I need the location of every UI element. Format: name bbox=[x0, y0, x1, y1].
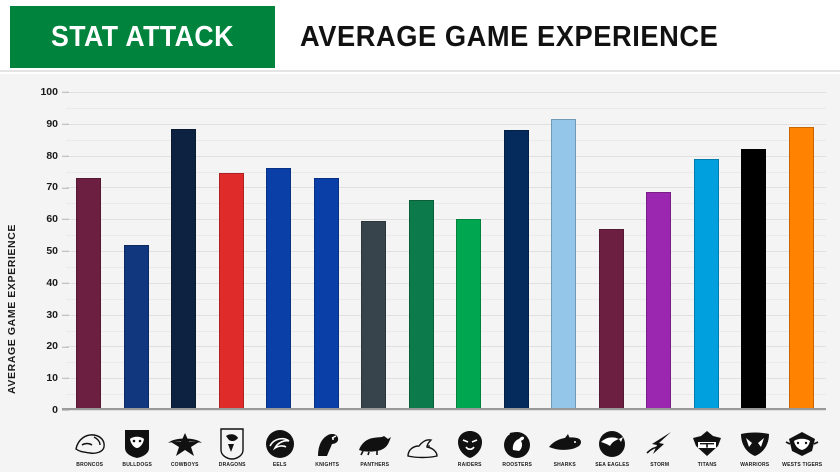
logo-caption: EELS bbox=[273, 463, 287, 468]
x-axis-label-sea-eagles[interactable]: SEA EAGLES bbox=[589, 418, 635, 468]
y-tick-mark-40 bbox=[62, 283, 69, 284]
plot-area bbox=[66, 92, 826, 410]
y-tick-label-30: 30 bbox=[18, 309, 58, 320]
x-axis-label-roosters[interactable]: ROOSTERS bbox=[494, 418, 540, 468]
logo-caption: WARRIORS bbox=[740, 463, 769, 468]
y-tick-mark-20 bbox=[62, 346, 69, 347]
y-tick-label-40: 40 bbox=[18, 278, 58, 289]
y-tick-mark-0 bbox=[62, 410, 69, 411]
bar-warriors[interactable] bbox=[741, 149, 766, 410]
logo-caption: BULLDOGS bbox=[122, 463, 152, 468]
y-tick-mark-70 bbox=[62, 187, 69, 188]
logo-caption: DRAGONS bbox=[219, 463, 246, 468]
x-axis-label-wests-tigers[interactable]: WESTS TIGERS bbox=[779, 418, 825, 468]
x-axis-label-cowboys[interactable]: COWBOYS bbox=[162, 418, 208, 468]
raiders-logo bbox=[450, 426, 490, 462]
chart-container: AVERAGE GAME EXPERIENCE 0102030405060708… bbox=[0, 74, 840, 472]
y-tick-label-60: 60 bbox=[18, 214, 58, 225]
x-axis-label-bulldogs[interactable]: BULLDOGS bbox=[114, 418, 160, 468]
brand-badge: STAT ATTACK bbox=[10, 6, 275, 68]
broncos-logo bbox=[70, 426, 110, 462]
storm-logo bbox=[640, 426, 680, 462]
eels-logo bbox=[260, 426, 300, 462]
x-axis-label-sharks[interactable]: SHARKS bbox=[542, 418, 588, 468]
bar-storm[interactable] bbox=[646, 192, 671, 410]
y-tick-mark-30 bbox=[62, 315, 69, 316]
y-tick-label-80: 80 bbox=[18, 150, 58, 161]
bulldogs-logo bbox=[117, 426, 157, 462]
logo-caption: RAIDERS bbox=[458, 463, 482, 468]
bar-bulldogs[interactable] bbox=[124, 245, 149, 410]
bar-rabbitohs[interactable] bbox=[409, 200, 434, 410]
gridline-0 bbox=[66, 410, 826, 411]
dragons-logo bbox=[212, 426, 252, 462]
x-axis-label-eels[interactable]: EELS bbox=[257, 418, 303, 468]
x-axis-label-rabbitohs[interactable] bbox=[399, 418, 445, 468]
logo-caption: TITANS bbox=[698, 463, 717, 468]
y-tick-label-50: 50 bbox=[18, 246, 58, 257]
bar-eels[interactable] bbox=[266, 168, 291, 410]
y-tick-label-0: 0 bbox=[18, 405, 58, 416]
header-divider bbox=[0, 70, 840, 72]
logo-caption: SEA EAGLES bbox=[595, 463, 629, 468]
y-tick-mark-60 bbox=[62, 219, 69, 220]
y-tick-label-70: 70 bbox=[18, 182, 58, 193]
sea-eagles-logo bbox=[592, 426, 632, 462]
logo-caption: WESTS TIGERS bbox=[782, 463, 822, 468]
y-tick-mark-10 bbox=[62, 378, 69, 379]
sharks-logo bbox=[545, 426, 585, 462]
logo-caption: PANTHERS bbox=[360, 463, 389, 468]
bar-dragons[interactable] bbox=[219, 173, 244, 410]
x-axis-label-panthers[interactable]: PANTHERS bbox=[352, 418, 398, 468]
logo-caption: STORM bbox=[650, 463, 669, 468]
y-tick-label-90: 90 bbox=[18, 119, 58, 130]
bar-panthers[interactable] bbox=[361, 221, 386, 410]
bar-wests-tigers[interactable] bbox=[789, 127, 814, 410]
wests-tigers-logo bbox=[782, 426, 822, 462]
x-axis-line bbox=[62, 408, 826, 410]
knights-logo bbox=[307, 426, 347, 462]
warriors-logo bbox=[735, 426, 775, 462]
y-tick-label-10: 10 bbox=[18, 373, 58, 384]
x-axis-logo-labels: BRONCOSBULLDOGSCOWBOYSDRAGONSEELSKNIGHTS… bbox=[66, 414, 826, 470]
brand-label: STAT ATTACK bbox=[51, 21, 234, 54]
cowboys-logo bbox=[165, 426, 205, 462]
y-tick-label-20: 20 bbox=[18, 341, 58, 352]
titans-logo bbox=[687, 426, 727, 462]
y-tick-mark-90 bbox=[62, 124, 69, 125]
x-axis-label-dragons[interactable]: DRAGONS bbox=[209, 418, 255, 468]
x-axis-label-warriors[interactable]: WARRIORS bbox=[732, 418, 778, 468]
y-tick-label-100: 100 bbox=[18, 87, 58, 98]
x-axis-label-storm[interactable]: STORM bbox=[637, 418, 683, 468]
x-axis-label-broncos[interactable]: BRONCOS bbox=[67, 418, 113, 468]
logo-caption: KNIGHTS bbox=[315, 463, 339, 468]
bar-roosters[interactable] bbox=[504, 130, 529, 410]
bar-broncos[interactable] bbox=[76, 178, 101, 410]
logo-caption: SHARKS bbox=[554, 463, 576, 468]
y-tick-mark-100 bbox=[62, 92, 69, 93]
logo-caption: ROOSTERS bbox=[502, 463, 532, 468]
x-axis-label-knights[interactable]: KNIGHTS bbox=[304, 418, 350, 468]
logo-caption: BRONCOS bbox=[76, 463, 103, 468]
panthers-logo bbox=[355, 426, 395, 462]
bar-sharks[interactable] bbox=[551, 119, 576, 410]
x-axis-label-titans[interactable]: TITANS bbox=[684, 418, 730, 468]
bar-raiders[interactable] bbox=[456, 219, 481, 410]
bar-knights[interactable] bbox=[314, 178, 339, 410]
y-axis-title: AVERAGE GAME EXPERIENCE bbox=[6, 224, 18, 394]
bar-cowboys[interactable] bbox=[171, 129, 196, 410]
y-tick-mark-80 bbox=[62, 156, 69, 157]
page-title: AVERAGE GAME EXPERIENCE bbox=[300, 6, 718, 68]
bar-series bbox=[66, 92, 826, 410]
bar-titans[interactable] bbox=[694, 159, 719, 410]
stat-attack-chart-page: STAT ATTACK AVERAGE GAME EXPERIENCE AVER… bbox=[0, 0, 840, 472]
header-bar: STAT ATTACK AVERAGE GAME EXPERIENCE bbox=[0, 0, 840, 68]
rabbitohs-logo bbox=[402, 431, 442, 467]
bar-sea-eagles[interactable] bbox=[599, 229, 624, 410]
logo-caption: COWBOYS bbox=[171, 463, 199, 468]
y-tick-mark-50 bbox=[62, 251, 69, 252]
roosters-logo bbox=[497, 426, 537, 462]
x-axis-label-raiders[interactable]: RAIDERS bbox=[447, 418, 493, 468]
